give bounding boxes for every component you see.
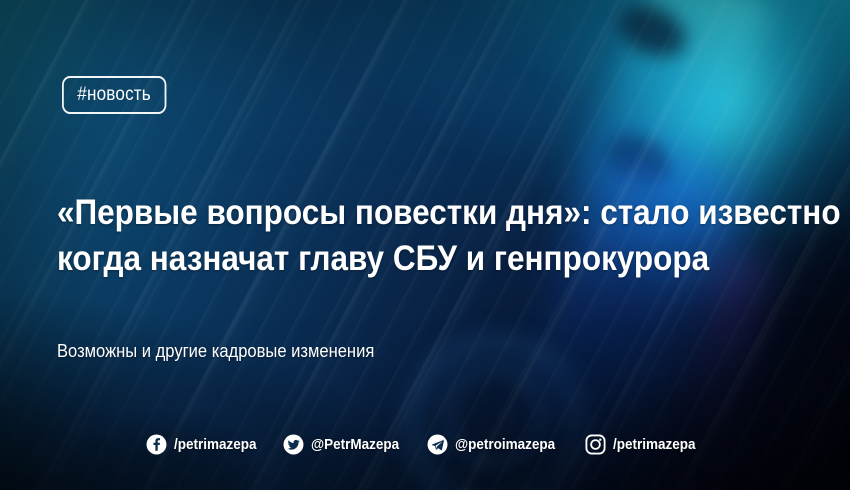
telegram-icon <box>427 434 448 455</box>
social-handle-facebook: /petrimazepa <box>174 436 257 453</box>
twitter-icon <box>283 434 304 455</box>
card-content: #новость «Первые вопросы повестки дня»: … <box>0 0 850 490</box>
social-link-telegram[interactable]: @petroimazepa <box>427 434 566 455</box>
category-badge[interactable]: #новость <box>62 76 166 114</box>
facebook-icon <box>146 434 167 455</box>
social-handle-telegram: @petroimazepa <box>455 436 555 453</box>
social-handle-instagram: /petrimazepa <box>613 436 696 453</box>
subtitle: Возможны и другие кадровые изменения <box>57 339 374 363</box>
headline-line-2: когда назначат главу СБУ и генпрокурора <box>57 236 741 282</box>
social-links: /petrimazepa @PetrMazepa @petroimazepa <box>0 434 850 455</box>
social-link-facebook[interactable]: /petrimazepa <box>146 434 266 455</box>
news-card: #новость «Первые вопросы повестки дня»: … <box>0 0 850 490</box>
headline: «Первые вопросы повестки дня»: стало изв… <box>57 190 741 282</box>
social-link-instagram[interactable]: /petrimazepa <box>585 434 705 455</box>
headline-line-1: «Первые вопросы повестки дня»: стало изв… <box>57 190 741 236</box>
instagram-icon <box>585 434 606 455</box>
social-link-twitter[interactable]: @PetrMazepa <box>283 434 409 455</box>
social-handle-twitter: @PetrMazepa <box>311 436 399 453</box>
